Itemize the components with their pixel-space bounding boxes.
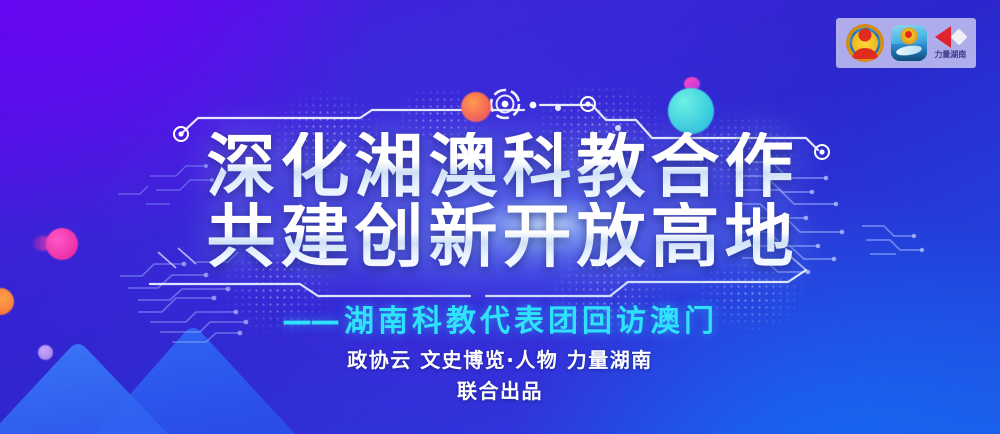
circuit-node-dot bbox=[555, 105, 561, 111]
banner-root: 深化湘澳科教合作 共建创新开放高地 ——湖南科教代表团回访澳门 政协云 文史博览… bbox=[0, 0, 1000, 434]
logo-liliang-hunan: 力量湖南 bbox=[934, 26, 966, 60]
liliang-mark-icon bbox=[935, 26, 965, 48]
circuit-node-dot bbox=[615, 125, 621, 131]
logo-cppcc-emblem bbox=[846, 24, 884, 62]
logo-zhengxieyun-app bbox=[891, 25, 927, 61]
circuit-node-dot bbox=[737, 147, 743, 153]
cppcc-star bbox=[858, 29, 871, 42]
cppcc-emblem-icon bbox=[846, 24, 884, 62]
liliang-label: 力量湖南 bbox=[934, 49, 966, 60]
orange-gradient-circle bbox=[461, 92, 491, 122]
liliang-diamond bbox=[951, 29, 968, 46]
zhengxieyun-app-icon bbox=[891, 25, 927, 61]
app-emblem bbox=[900, 27, 917, 44]
teal-circle bbox=[668, 88, 714, 134]
liliang-arrow bbox=[935, 26, 951, 48]
logo-panel: 力量湖南 bbox=[836, 18, 976, 68]
